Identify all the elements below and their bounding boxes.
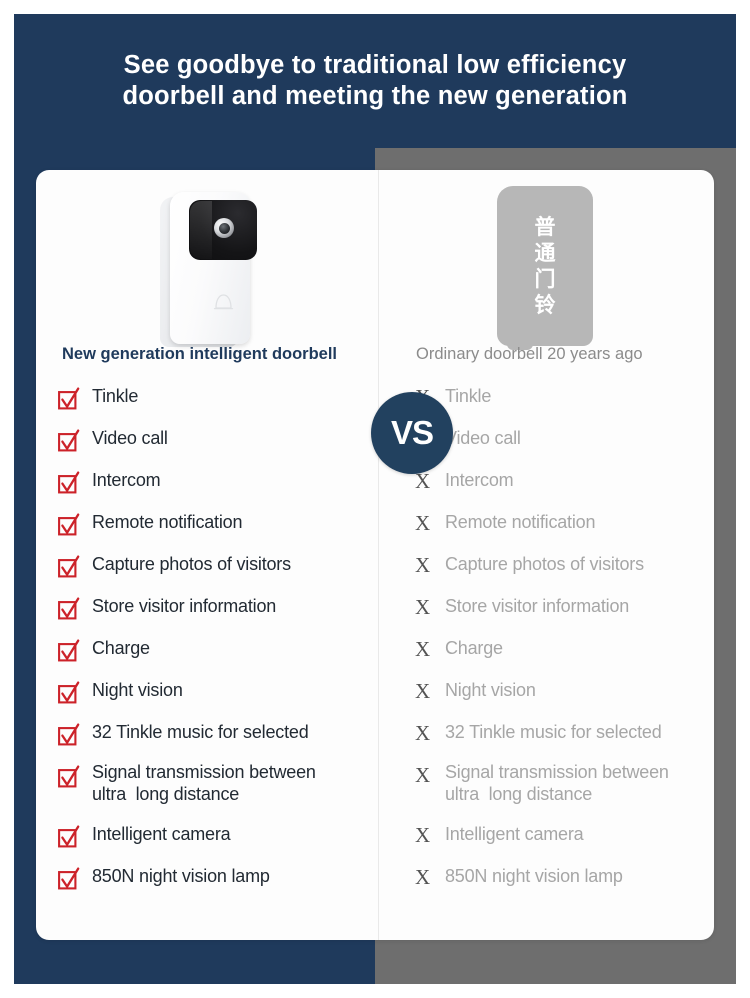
feature-row: 850N night vision lamp xyxy=(58,862,374,904)
right-column-header: Ordinary doorbell 20 years ago xyxy=(416,344,643,364)
red-checkbox-check-icon xyxy=(58,550,92,579)
header-banner: See goodbye to traditional low efficienc… xyxy=(14,14,736,148)
feature-label: Video call xyxy=(92,424,168,450)
left-column-header: New generation intelligent doorbell xyxy=(62,344,337,364)
feature-label: Night vision xyxy=(92,676,183,702)
grey-x-icon: X xyxy=(411,676,445,701)
feature-row: Night vision xyxy=(58,676,374,718)
feature-label: Remote notification xyxy=(92,508,242,534)
red-checkbox-check-icon xyxy=(58,466,92,495)
feature-label: 850N night vision lamp xyxy=(445,862,623,888)
feature-row: XTinkle xyxy=(411,382,711,424)
x-glyph: X xyxy=(411,867,430,887)
x-glyph: X xyxy=(411,555,430,575)
comparison-card: 普 通 门 铃 VS New generation intelligent do… xyxy=(36,170,714,940)
feature-row: Remote notification xyxy=(58,508,374,550)
feature-row: Store visitor information xyxy=(58,592,374,634)
feature-label: Intercom xyxy=(445,466,513,492)
vs-label: VS xyxy=(391,414,433,452)
x-glyph: X xyxy=(411,471,430,491)
camera-lens-icon xyxy=(219,223,230,234)
grey-x-icon: X xyxy=(411,862,445,887)
feature-row: Charge xyxy=(58,634,374,676)
grey-x-icon: X xyxy=(411,592,445,617)
right-feature-list: XTinkleXVideo callXIntercomXRemote notif… xyxy=(411,382,711,904)
right-product-area: 普 通 门 铃 xyxy=(379,170,714,366)
red-checkbox-check-icon xyxy=(58,760,92,789)
red-checkbox-check-icon xyxy=(58,424,92,453)
feature-row: XCapture photos of visitors xyxy=(411,550,711,592)
red-checkbox-check-icon xyxy=(58,820,92,849)
feature-row: 32 Tinkle music for selected xyxy=(58,718,374,760)
feature-row: Video call xyxy=(58,424,374,466)
x-glyph: X xyxy=(411,513,430,533)
ordinary-doorbell-characters: 普 通 门 铃 xyxy=(497,186,593,346)
feature-row: XSignal transmission betweenultra long d… xyxy=(411,760,711,820)
feature-row: X850N night vision lamp xyxy=(411,862,711,904)
feature-row: XRemote notification xyxy=(411,508,711,550)
feature-row: Signal transmission betweenultra long di… xyxy=(58,760,374,820)
feature-label: Charge xyxy=(445,634,503,660)
feature-row: XIntercom xyxy=(411,466,711,508)
feature-label: Video call xyxy=(445,424,521,450)
feature-label: Capture photos of visitors xyxy=(92,550,291,576)
feature-label: Charge xyxy=(92,634,150,660)
feature-row: XNight vision xyxy=(411,676,711,718)
feature-row: X32 Tinkle music for selected xyxy=(411,718,711,760)
feature-label: 32 Tinkle music for selected xyxy=(92,718,309,744)
x-glyph: X xyxy=(411,597,430,617)
left-product-area xyxy=(36,170,378,366)
feature-label: Night vision xyxy=(445,676,536,702)
smart-doorbell-icon xyxy=(158,192,254,352)
camera-glare xyxy=(190,201,212,259)
red-checkbox-check-icon xyxy=(58,382,92,411)
feature-row: XStore visitor information xyxy=(411,592,711,634)
grey-x-icon: X xyxy=(411,634,445,659)
feature-label: 850N night vision lamp xyxy=(92,862,270,888)
x-glyph: X xyxy=(411,765,430,785)
feature-label: Signal transmission betweenultra long di… xyxy=(92,760,316,805)
char-ling: 铃 xyxy=(535,295,556,316)
feature-row: XCharge xyxy=(411,634,711,676)
feature-row: XVideo call xyxy=(411,424,711,466)
grey-x-icon: X xyxy=(411,718,445,743)
grey-x-icon: X xyxy=(411,820,445,845)
red-checkbox-check-icon xyxy=(58,592,92,621)
feature-row: Intelligent camera xyxy=(58,820,374,862)
feature-row: Tinkle xyxy=(58,382,374,424)
grey-x-icon: X xyxy=(411,550,445,575)
char-men: 门 xyxy=(535,269,556,290)
feature-label: Signal transmission betweenultra long di… xyxy=(445,760,669,805)
grey-x-icon: X xyxy=(411,760,445,785)
feature-label: Capture photos of visitors xyxy=(445,550,644,576)
red-checkbox-check-icon xyxy=(58,862,92,891)
feature-label: Intercom xyxy=(92,466,160,492)
feature-label: Intelligent camera xyxy=(445,820,583,846)
feature-label: Store visitor information xyxy=(445,592,629,618)
ordinary-doorbell-icon: 普 通 门 铃 xyxy=(497,186,597,352)
feature-row: Intercom xyxy=(58,466,374,508)
grey-x-icon: X xyxy=(411,508,445,533)
left-feature-list: TinkleVideo callIntercomRemote notificat… xyxy=(58,382,374,904)
red-checkbox-check-icon xyxy=(58,634,92,663)
feature-label: Tinkle xyxy=(445,382,491,408)
red-checkbox-check-icon xyxy=(58,508,92,537)
x-glyph: X xyxy=(411,681,430,701)
x-glyph: X xyxy=(411,825,430,845)
feature-label: Tinkle xyxy=(92,382,138,408)
x-glyph: X xyxy=(411,639,430,659)
feature-row: XIntelligent camera xyxy=(411,820,711,862)
feature-label: 32 Tinkle music for selected xyxy=(445,718,662,744)
feature-label: Store visitor information xyxy=(92,592,276,618)
char-tong: 通 xyxy=(535,243,556,264)
doorbell-bell-button-icon xyxy=(211,290,236,312)
char-pu: 普 xyxy=(535,217,556,238)
red-checkbox-check-icon xyxy=(58,676,92,705)
x-glyph: X xyxy=(411,723,430,743)
feature-label: Remote notification xyxy=(445,508,595,534)
red-checkbox-check-icon xyxy=(58,718,92,747)
comparison-poster: See goodbye to traditional low efficienc… xyxy=(0,0,750,998)
vs-badge: VS xyxy=(371,392,453,474)
feature-row: Capture photos of visitors xyxy=(58,550,374,592)
doorbell-body xyxy=(170,192,250,344)
banner-headline: See goodbye to traditional low efficienc… xyxy=(96,50,653,112)
feature-label: Intelligent camera xyxy=(92,820,230,846)
